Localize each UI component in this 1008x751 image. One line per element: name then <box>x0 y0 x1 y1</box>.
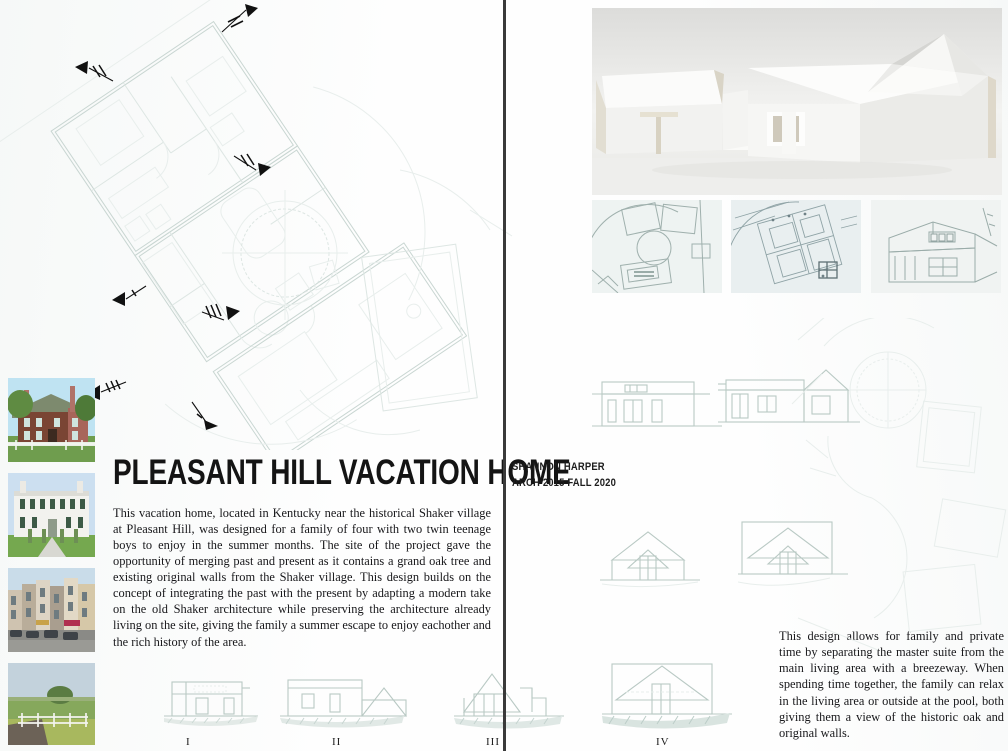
white-colonial-house-photo <box>8 473 95 557</box>
credit-course: ARCH 2015 FALL 2020 <box>512 476 616 492</box>
elevation-label-ii: II <box>332 736 341 748</box>
section-marker-iii-right <box>200 300 248 330</box>
ghost-site-plan <box>788 318 1008 663</box>
credit-name: SHANNON HARPER <box>512 460 616 476</box>
elevation-label-i: I <box>186 736 191 748</box>
concept-site-sketch <box>592 200 722 293</box>
section-marker-ii-top <box>218 2 264 36</box>
section-marker-iv-mid <box>232 152 278 182</box>
shaker-brick-house-photo <box>8 378 95 462</box>
elevation-label-iv: IV <box>656 736 670 748</box>
massing-model-photo <box>592 8 1002 195</box>
section-marker-iv-left <box>73 57 119 87</box>
elevation-bottom-iv <box>600 658 740 730</box>
historic-streetscape-photo <box>8 568 95 652</box>
elevation-bottom-iii <box>452 664 572 730</box>
project-description-left: This vacation home, located in Kentucky … <box>113 505 491 650</box>
author-credit: SHANNON HARPER ARCH 2015 FALL 2020 <box>512 460 616 491</box>
elevation-bottom-i <box>158 672 268 730</box>
presentation-board: PLEASANT HILL VACATION HOME SHANNON HARP… <box>0 0 1008 751</box>
elevation-right-small-gable <box>596 522 706 592</box>
perspective-sketch <box>871 200 1001 293</box>
kentucky-landscape-photo <box>8 663 95 745</box>
elevation-right-flat-roof <box>592 372 732 434</box>
page-title: PLEASANT HILL VACATION HOME <box>113 455 427 492</box>
elevation-bottom-ii <box>278 668 413 730</box>
elevation-label-iii: III <box>486 736 500 748</box>
section-marker-i-lower <box>188 400 228 432</box>
center-divider <box>503 0 506 751</box>
section-marker-i-upper <box>110 282 150 312</box>
floor-plan-sketch <box>731 200 861 293</box>
pool-symbol <box>362 244 478 411</box>
